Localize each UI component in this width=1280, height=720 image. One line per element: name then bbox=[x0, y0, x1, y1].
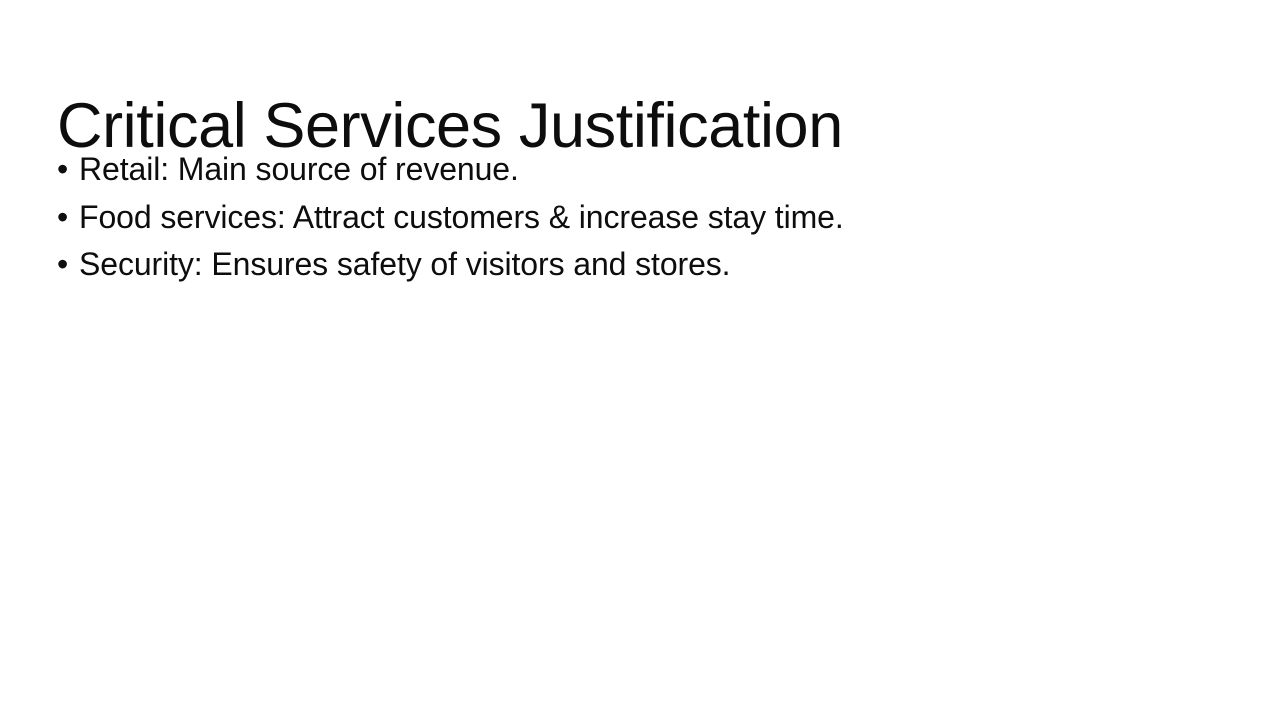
list-item-label: Security: Ensures safety of visitors and… bbox=[79, 241, 730, 289]
bullet-dot-icon: • bbox=[57, 194, 79, 242]
list-item: • Food services: Attract customers & inc… bbox=[57, 194, 1217, 242]
list-item-label: Retail: Main source of revenue. bbox=[79, 146, 519, 194]
list-item: • Security: Ensures safety of visitors a… bbox=[57, 241, 1217, 289]
list-item: • Retail: Main source of revenue. bbox=[57, 146, 1217, 194]
bullet-dot-icon: • bbox=[57, 241, 79, 289]
bullet-list: • Retail: Main source of revenue. • Food… bbox=[57, 146, 1217, 289]
bullet-dot-icon: • bbox=[57, 146, 79, 194]
list-item-label: Food services: Attract customers & incre… bbox=[79, 194, 844, 242]
presentation-slide: Critical Services Justification • Retail… bbox=[0, 0, 1280, 720]
